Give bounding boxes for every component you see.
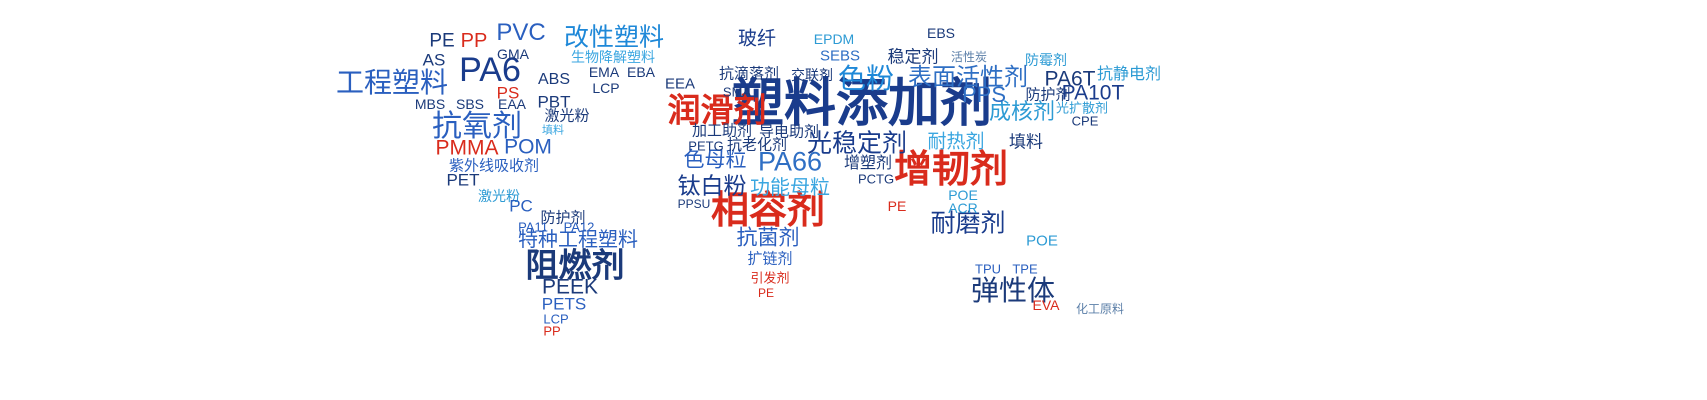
wordcloud-word[interactable]: 填料	[542, 126, 564, 137]
wordcloud-word[interactable]: PCTG	[858, 173, 894, 186]
wordcloud-word[interactable]: 改性塑料	[564, 26, 664, 51]
wordcloud-word[interactable]: SBS	[456, 97, 484, 111]
wordcloud-word[interactable]: 引发剂	[750, 272, 789, 285]
wordcloud-word[interactable]: 稳定剂	[888, 49, 939, 66]
wordcloud-word[interactable]: 防霉剂	[1025, 53, 1067, 67]
wordcloud-word[interactable]: 钛白粉	[678, 175, 747, 198]
wordcloud-word[interactable]: 增韧剂	[894, 151, 1008, 189]
wordcloud-word[interactable]: 色粉	[838, 65, 894, 93]
wordcloud-word[interactable]: 玻纤	[738, 30, 776, 49]
wordcloud-word[interactable]: EMA	[589, 65, 619, 79]
wordcloud-word[interactable]: PET	[446, 172, 479, 189]
wordcloud-word[interactable]: 填料	[1009, 134, 1043, 151]
wordcloud-word[interactable]: PP	[461, 31, 488, 51]
wordcloud-word[interactable]: ABS	[538, 72, 570, 88]
wordcloud-word[interactable]: PE	[429, 32, 454, 51]
wordcloud-word[interactable]: 活性炭	[951, 51, 987, 63]
wordcloud-word[interactable]: 抗滴落剂	[719, 67, 779, 82]
wordcloud-word[interactable]: 增塑剂	[844, 156, 892, 172]
wordcloud-word[interactable]: SMA	[723, 86, 751, 99]
wordcloud-word[interactable]: LCP	[592, 81, 619, 95]
wordcloud-word[interactable]: PETG	[688, 140, 723, 153]
wordcloud-word[interactable]: 导电助剂	[759, 125, 819, 140]
wordcloud-word[interactable]: SEBS	[820, 49, 860, 64]
wordcloud-word[interactable]: EVA	[1033, 298, 1060, 312]
wordcloud-word[interactable]: GMA	[497, 47, 529, 61]
wordcloud-word[interactable]: PPSU	[678, 198, 711, 210]
wordcloud-word[interactable]: MBS	[415, 97, 445, 111]
wordcloud-word[interactable]: 抗静电剂	[1097, 67, 1161, 83]
wordcloud-word[interactable]: 加工助剂	[692, 124, 752, 139]
wordcloud-word[interactable]: PA11	[518, 221, 548, 234]
wordcloud-word[interactable]: EBA	[627, 65, 655, 79]
wordcloud-word[interactable]: ACR	[948, 201, 978, 215]
wordcloud-word[interactable]: TPE	[1012, 263, 1037, 276]
wordcloud-word[interactable]: PETS	[542, 296, 586, 313]
wordcloud-word[interactable]: PPS	[962, 84, 1006, 106]
wordcloud-word[interactable]: 生物降解塑料	[571, 50, 655, 64]
wordcloud-word[interactable]: 抗菌剂	[737, 228, 800, 249]
wordcloud-word[interactable]: EPDM	[814, 32, 854, 46]
wordcloud-word[interactable]: 化工原料	[1076, 303, 1124, 315]
wordcloud-word[interactable]: 功能母粒	[750, 178, 830, 198]
wordcloud-word[interactable]: POE	[1026, 234, 1058, 249]
wordcloud-word[interactable]: AS	[423, 52, 446, 69]
wordcloud-word[interactable]: TPU	[975, 263, 1001, 276]
wordcloud-word[interactable]: CPE	[1072, 115, 1099, 128]
wordcloud-word[interactable]: PC	[509, 198, 533, 215]
wordcloud-word[interactable]: PE	[758, 287, 774, 299]
wordcloud-word[interactable]: PP	[543, 325, 560, 338]
wordcloud-word[interactable]: PBT	[537, 94, 570, 111]
wordcloud-word[interactable]: EAA	[498, 97, 526, 111]
wordcloud-word[interactable]: 扩链剂	[747, 252, 792, 267]
wordcloud-word[interactable]: PVC	[496, 21, 545, 45]
wordcloud-word[interactable]: POM	[504, 137, 552, 158]
wordcloud-canvas: 塑料添加剂增韧剂相容剂润滑剂阻燃剂工程塑料抗氧剂PA6色粉表面活性剂光稳定剂弹性…	[0, 0, 1707, 400]
wordcloud-word[interactable]: EEA	[665, 77, 695, 92]
wordcloud-word[interactable]: PE	[888, 199, 907, 213]
wordcloud-word[interactable]: EBS	[927, 26, 955, 40]
wordcloud-word[interactable]: 交联剂	[791, 68, 833, 82]
wordcloud-word[interactable]: PMMA	[436, 138, 499, 159]
wordcloud-word[interactable]: PA12	[564, 221, 595, 234]
wordcloud-word[interactable]: 工程塑料	[336, 69, 448, 97]
wordcloud-word[interactable]: 耐热剂	[927, 133, 984, 152]
